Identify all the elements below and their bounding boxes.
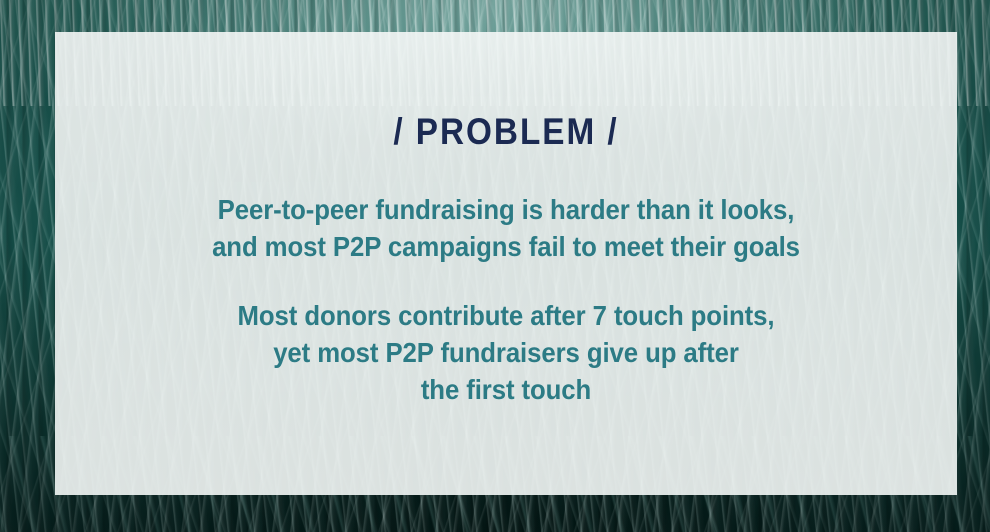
content-panel: / PROBLEM / Peer-to-peer fundraising is … (55, 32, 957, 495)
paragraph-line: Most donors contribute after 7 touch poi… (91, 297, 921, 334)
page-title: / PROBLEM / (100, 113, 912, 150)
paragraph-problem-statement: Peer-to-peer fundraising is harder than … (55, 191, 957, 265)
paragraph-line: and most P2P campaigns fail to meet thei… (91, 228, 921, 265)
paragraph-line: the first touch (91, 371, 921, 408)
paragraph-line: Peer-to-peer fundraising is harder than … (91, 191, 921, 228)
paragraph-touch-points-statement: Most donors contribute after 7 touch poi… (55, 297, 957, 408)
presentation-slide: / PROBLEM / Peer-to-peer fundraising is … (0, 0, 990, 532)
content-panel-inner: / PROBLEM / Peer-to-peer fundraising is … (55, 32, 957, 495)
paragraph-line: yet most P2P fundraisers give up after (91, 334, 921, 371)
